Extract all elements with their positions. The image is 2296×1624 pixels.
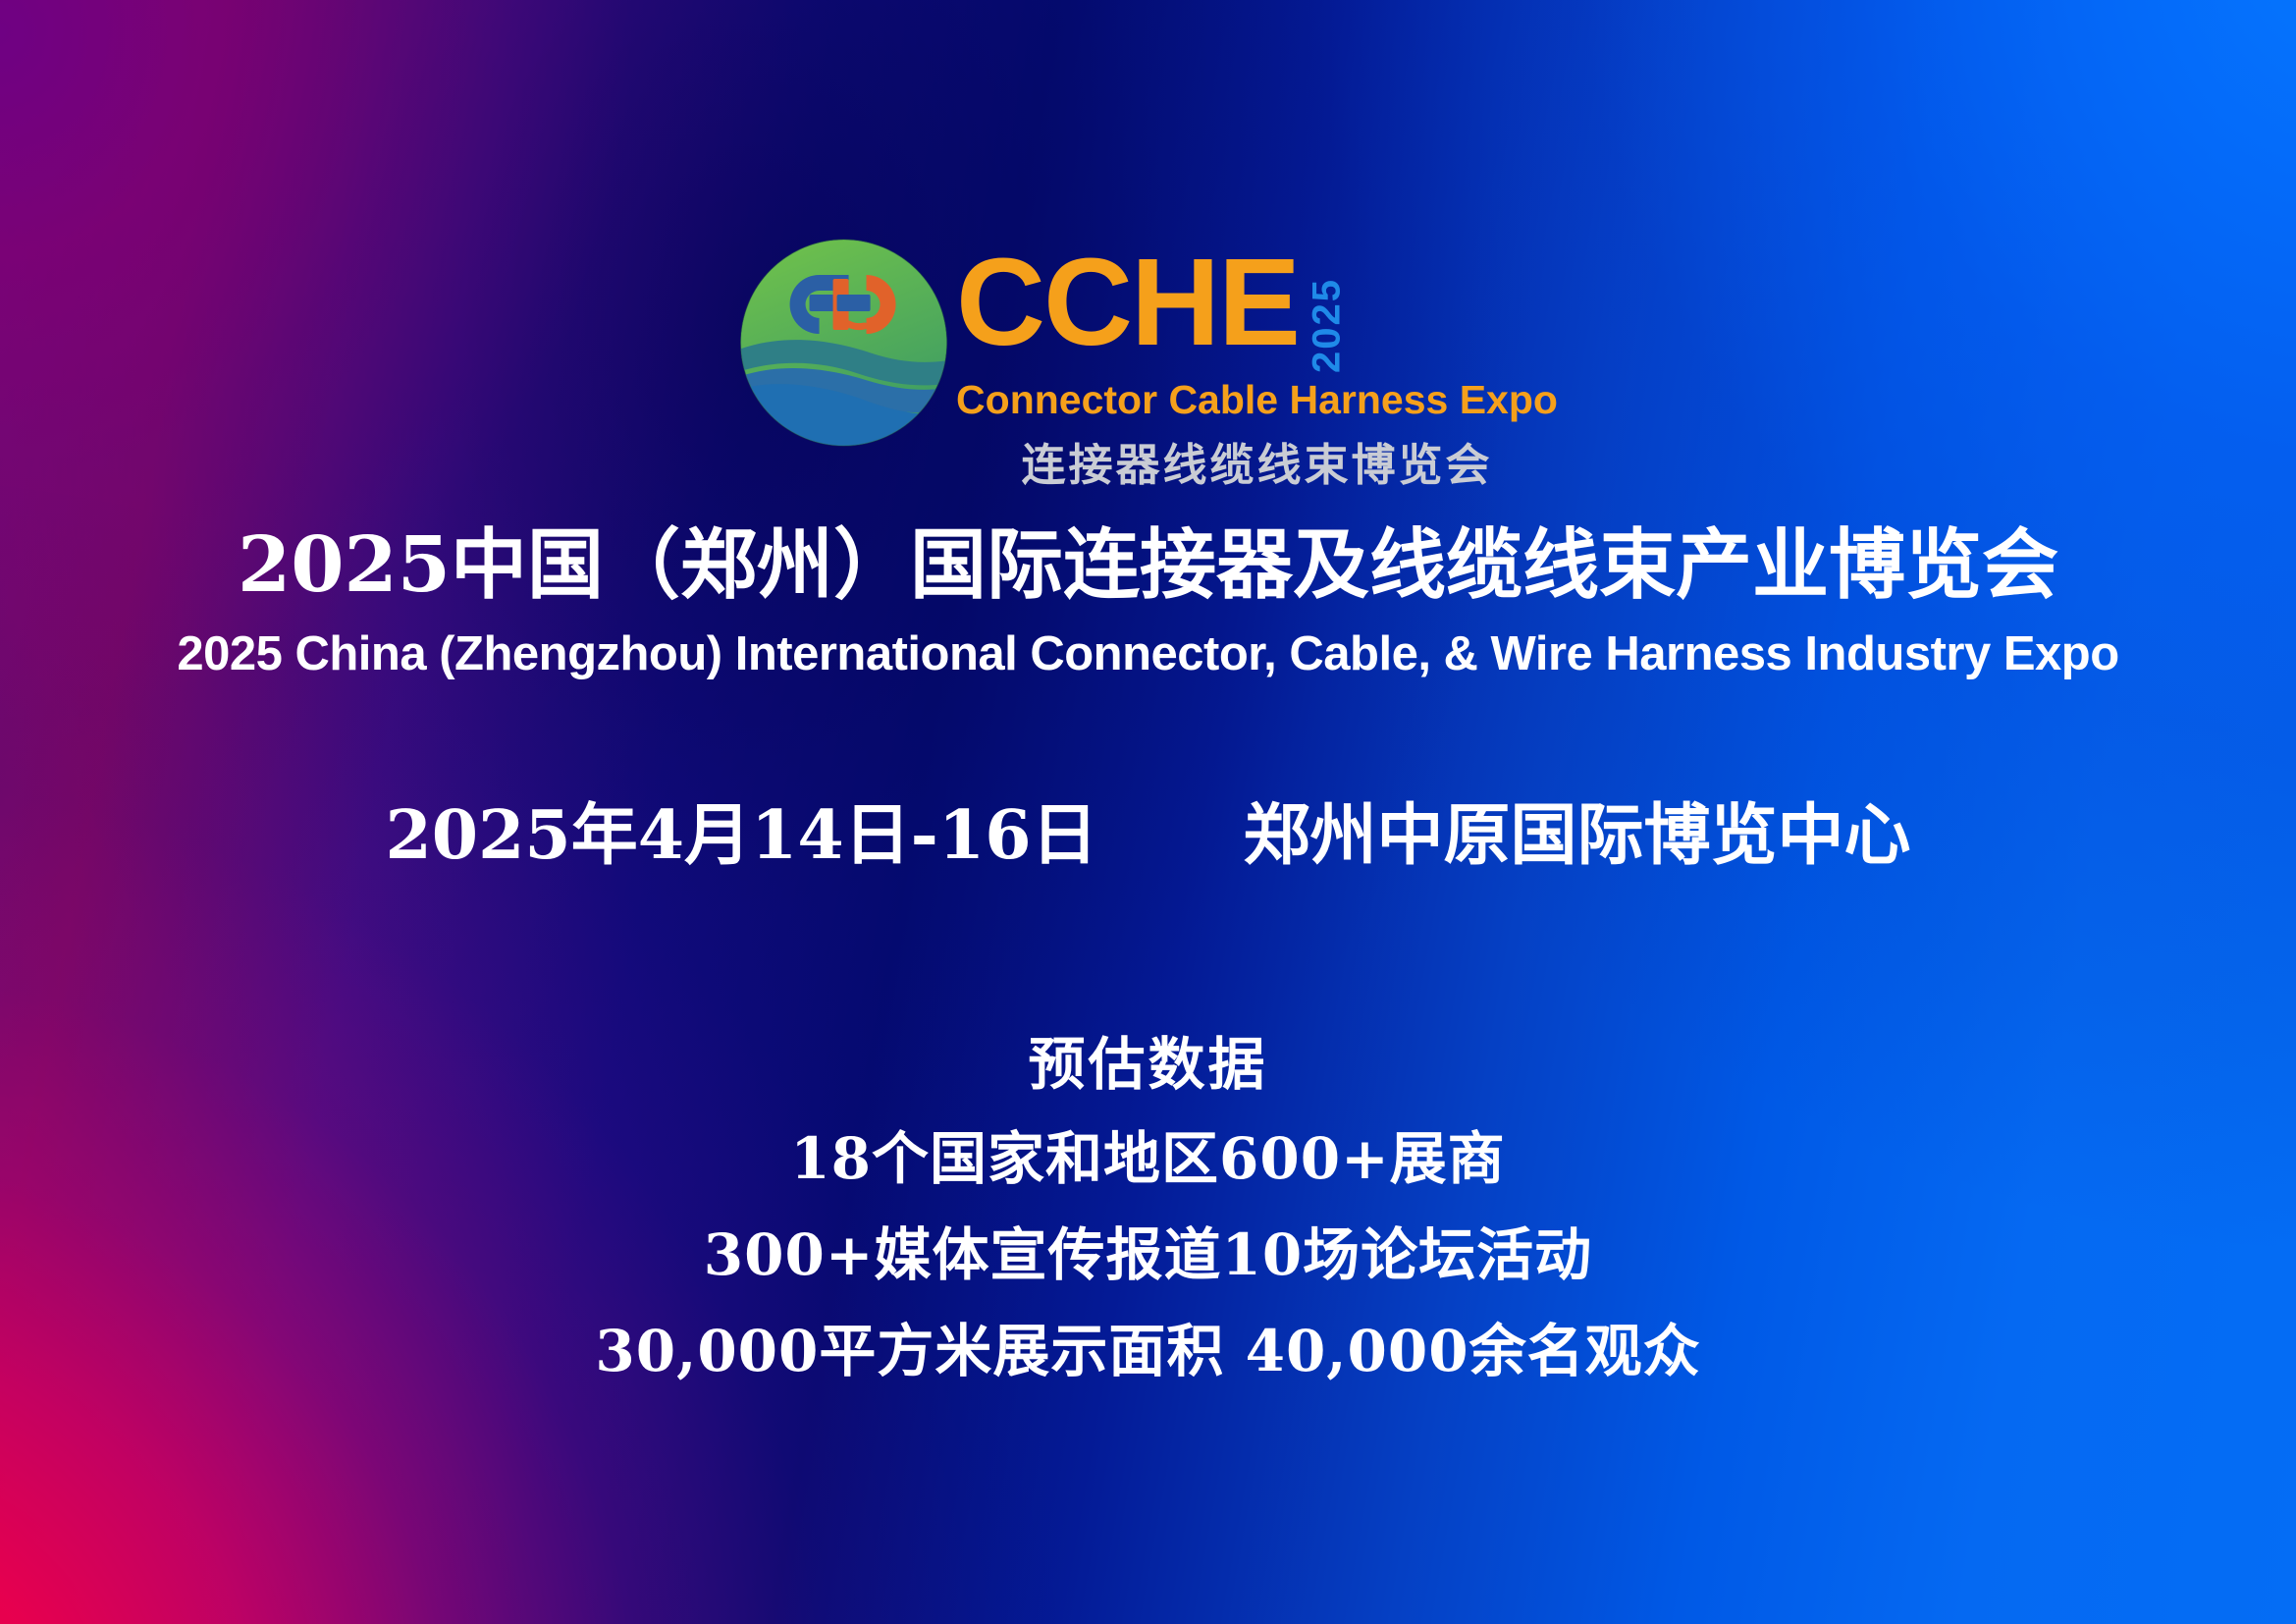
logo-year-vertical: 2025 (1305, 251, 1349, 373)
cche-circular-emblem-icon (738, 238, 948, 448)
logo-text-column: CCHE 2025 Connector Cable Harness Expo 连… (956, 232, 1558, 493)
page-title-cn: 2025中国（郑州）国际连接器及线缆线束产业博览会 (0, 525, 2296, 606)
logo-wordmark: CCHE (956, 245, 1299, 359)
logo-wordmark-row: CCHE 2025 (956, 245, 1349, 373)
logo-tagline-en: Connector Cable Harness Expo (956, 377, 1558, 423)
stat-line-area-visitors: 30,000平方米展示面积 40,000余名观众 (0, 1323, 2296, 1380)
stats-heading: 预估数据 (0, 1036, 2296, 1093)
stat-line-exhibitors: 18个国家和地区600+展商 (0, 1130, 2296, 1187)
logo-tagline-cn: 连接器线缆线束博览会 (1021, 429, 1492, 493)
event-venue: 郑州中原国际博览中心 (1244, 781, 1911, 878)
estimated-stats-block: 预估数据 18个国家和地区600+展商 300+媒体宣传报道10场论坛活动 30… (0, 1036, 2296, 1380)
banner-content: CCHE 2025 Connector Cable Harness Expo 连… (0, 0, 2296, 1624)
stat-line-media-forums: 300+媒体宣传报道10场论坛活动 (0, 1226, 2296, 1283)
page-title-en: 2025 China (Zhengzhou) International Con… (0, 628, 2296, 681)
event-dates: 2025年4月14日-16日 (385, 781, 1097, 878)
expo-promo-banner: CCHE 2025 Connector Cable Harness Expo 连… (0, 0, 2296, 1624)
event-details-row: 2025年4月14日-16日 郑州中原国际博览中心 (0, 781, 2296, 878)
logo-lockup: CCHE 2025 Connector Cable Harness Expo 连… (738, 232, 1558, 493)
